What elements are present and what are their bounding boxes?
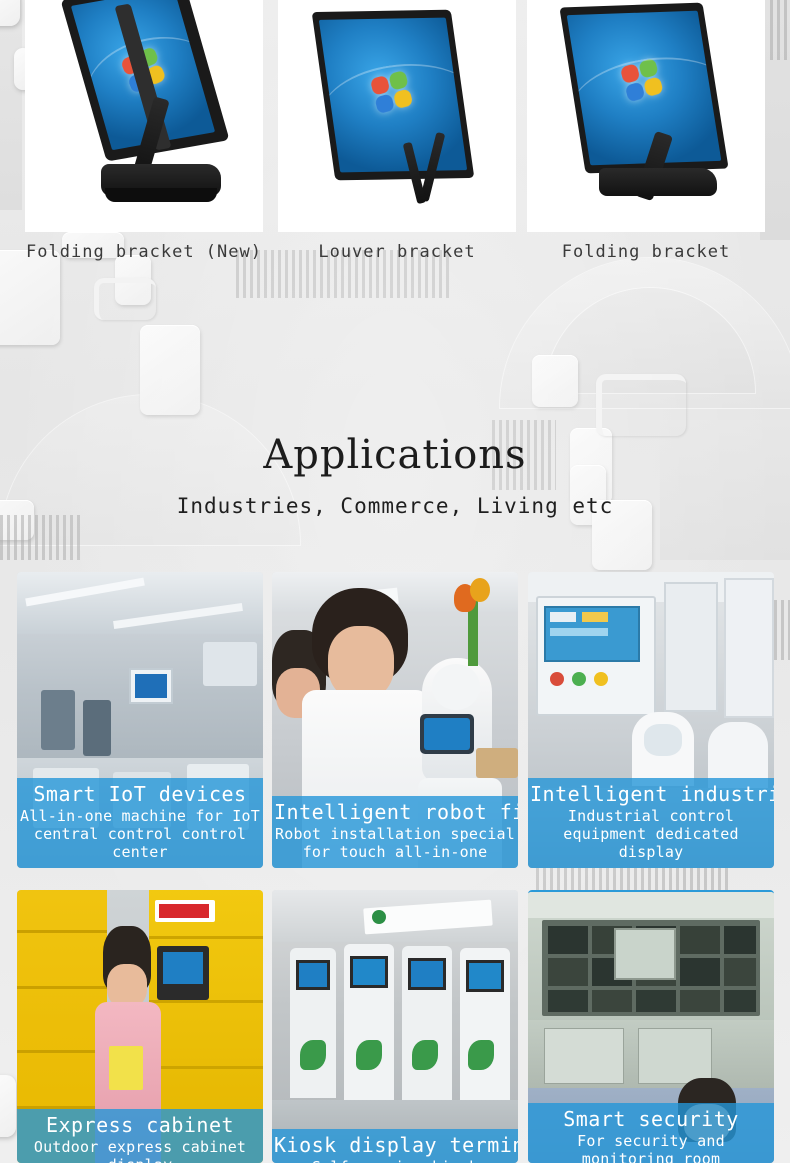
application-title-5: Kiosk display terminal: [274, 1133, 516, 1158]
application-desc-6: For security and monitoring room: [530, 1132, 772, 1163]
application-title-4: Express cabinet: [19, 1113, 261, 1138]
application-desc-3: Industrial control equipment dedicated d…: [530, 807, 772, 861]
application-card-intelligent-robot-field[interactable]: Intelligent robot field Robot installati…: [272, 572, 518, 868]
application-desc-4: Outdoor express cabinet display: [19, 1138, 261, 1163]
application-overlay-6: Smart security For security and monitori…: [528, 1103, 774, 1163]
application-photo-self-service-kiosks: [272, 890, 518, 1163]
application-desc-5: Self-service kiosk: [274, 1158, 516, 1163]
application-overlay-1: Smart IoT devices All-in-one machine for…: [17, 778, 263, 868]
application-card-express-cabinet[interactable]: Express cabinet Outdoor express cabinet …: [17, 890, 263, 1163]
applications-grid: Smart IoT devices All-in-one machine for…: [0, 0, 790, 1163]
application-overlay-5: Kiosk display terminal Self-service kios…: [272, 1129, 518, 1163]
application-overlay-2: Intelligent robot field Robot installati…: [272, 796, 518, 868]
application-desc-2: Robot installation special for touch all…: [274, 825, 516, 861]
application-desc-1: All-in-one machine for IoT central contr…: [19, 807, 261, 861]
application-card-smart-security[interactable]: Smart security For security and monitori…: [528, 890, 774, 1163]
application-overlay-3: Intelligent industrial equipment Industr…: [528, 778, 774, 868]
application-card-smart-iot-devices[interactable]: Smart IoT devices All-in-one machine for…: [17, 572, 263, 868]
application-title-3: Intelligent industrial equipment: [530, 782, 772, 807]
product-applications-page: Folding bracket (New) Louver bracket Fol…: [0, 0, 790, 1163]
application-card-kiosk-display-terminal[interactable]: Kiosk display terminal Self-service kios…: [272, 890, 518, 1163]
application-title-1: Smart IoT devices: [19, 782, 261, 807]
application-overlay-4: Express cabinet Outdoor express cabinet …: [17, 1109, 263, 1163]
application-title-6: Smart security: [530, 1107, 772, 1132]
application-card-intelligent-industrial-equipment[interactable]: Intelligent industrial equipment Industr…: [528, 572, 774, 868]
application-title-2: Intelligent robot field: [274, 800, 516, 825]
